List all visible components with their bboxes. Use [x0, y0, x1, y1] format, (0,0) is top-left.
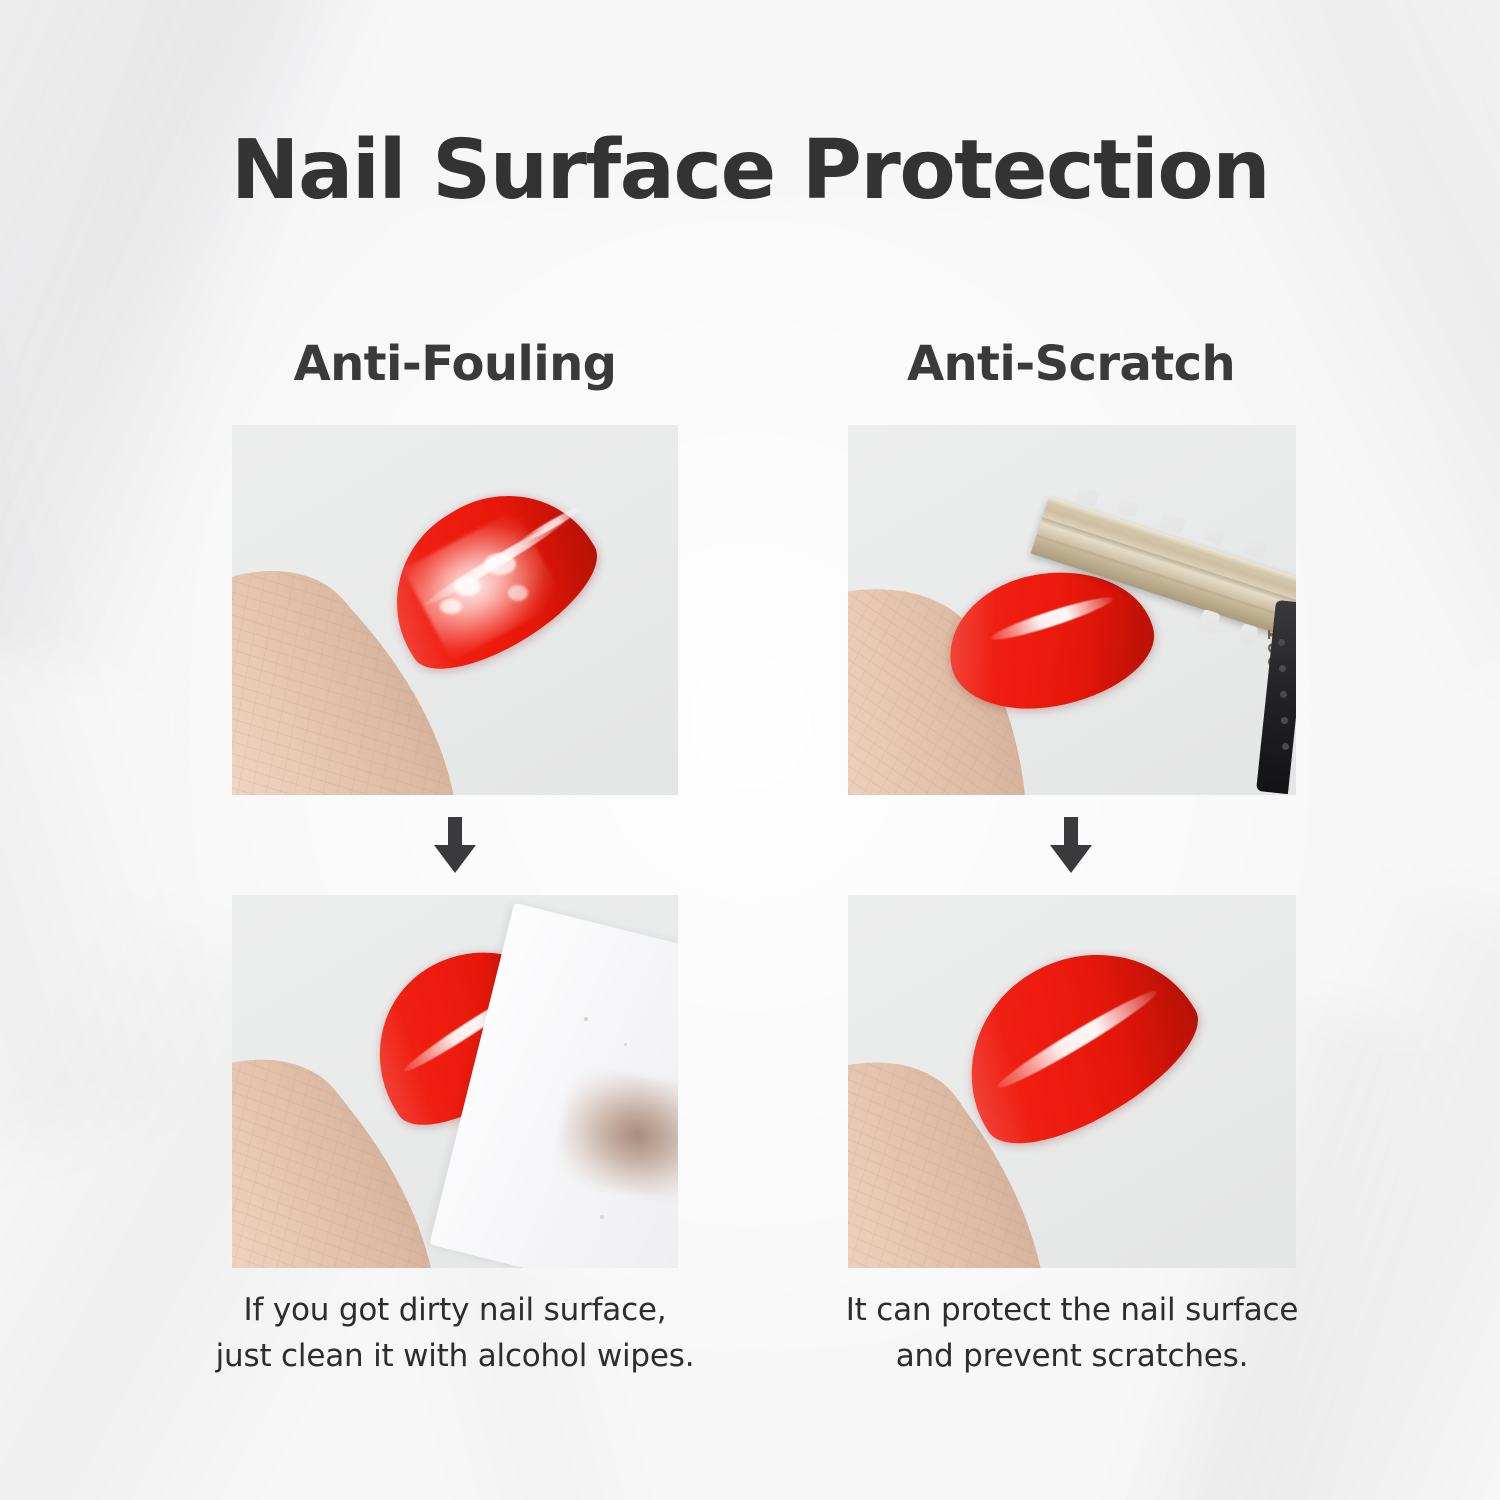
stain-fleck	[508, 585, 528, 601]
key-head-dot	[1280, 691, 1287, 698]
caption-line: If you got dirty nail surface,	[175, 1288, 735, 1334]
background-fold	[0, 300, 217, 1179]
infographic-page: Nail Surface Protection Anti-Fouling Ant…	[0, 0, 1500, 1500]
key-head-dot	[1279, 665, 1286, 672]
column-heading-anti-fouling: Anti-Fouling	[232, 336, 678, 392]
photo-anti-scratch-before: 100	[848, 425, 1296, 795]
arrow-down-icon	[1048, 817, 1094, 873]
caption-line: just clean it with alcohol wipes.	[175, 1334, 735, 1380]
key-head-dot	[1278, 639, 1285, 646]
photo-anti-fouling-before	[232, 425, 678, 795]
arrow-down-icon	[432, 817, 478, 873]
photo-anti-fouling-after	[232, 895, 678, 1268]
stain-fleck	[454, 577, 480, 596]
caption-anti-fouling: If you got dirty nail surface, just clea…	[175, 1288, 735, 1380]
page-title: Nail Surface Protection	[0, 128, 1500, 214]
caption-line: It can protect the nail surface	[792, 1288, 1352, 1334]
wipe-speck	[584, 1017, 588, 1021]
wipe-speck	[600, 1215, 604, 1219]
photo-anti-scratch-after	[848, 895, 1296, 1268]
key-head-dot	[1282, 743, 1289, 750]
caption-anti-scratch: It can protect the nail surface and prev…	[792, 1288, 1352, 1380]
stain-fleck	[484, 553, 516, 575]
key-head-dot	[1281, 717, 1288, 724]
wipe-speck	[624, 1043, 627, 1046]
caption-line: and prevent scratches.	[792, 1334, 1352, 1380]
column-heading-anti-scratch: Anti-Scratch	[848, 336, 1294, 392]
stain-fleck	[440, 599, 462, 614]
